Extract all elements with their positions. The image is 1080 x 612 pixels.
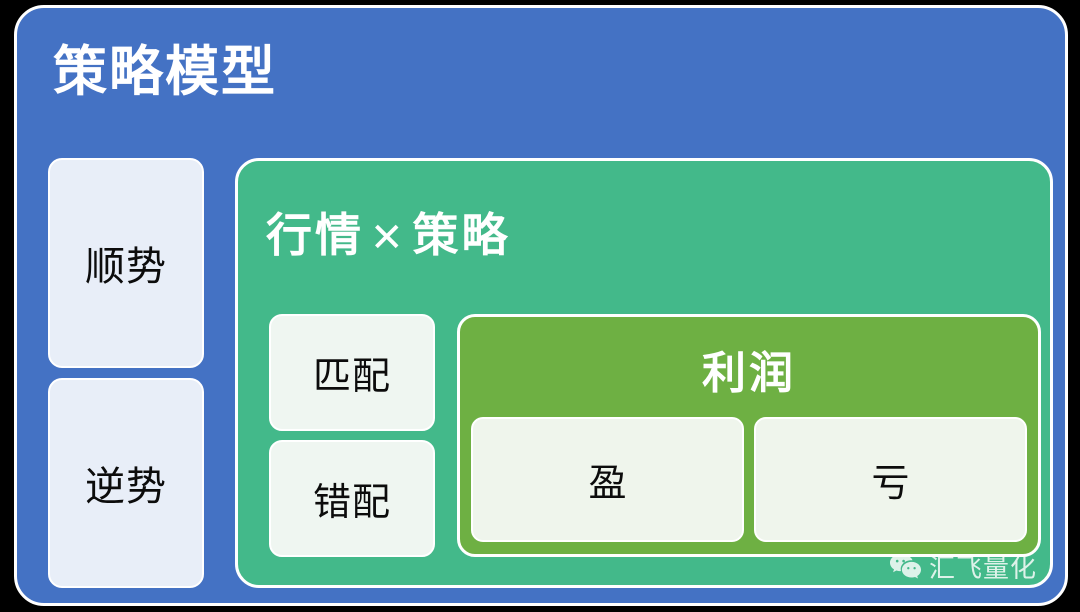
profit-title: 利润 xyxy=(460,337,1038,401)
profit-outcome-row: 盈 亏 xyxy=(471,417,1027,542)
strategy-label: 策略 xyxy=(413,209,511,261)
profit-card-loss[interactable]: 亏 xyxy=(754,417,1027,542)
multiply-icon: ✕ xyxy=(364,216,413,260)
match-column: 匹配 错配 xyxy=(269,314,435,557)
profit-panel: 利润 盈 亏 xyxy=(457,314,1041,557)
market-label: 行情 xyxy=(266,209,364,261)
match-card-mismatched[interactable]: 错配 xyxy=(269,440,435,557)
trend-card-counter[interactable]: 逆势 xyxy=(48,378,204,588)
profit-card-gain[interactable]: 盈 xyxy=(471,417,744,542)
trend-column: 顺势 逆势 xyxy=(48,158,204,588)
trend-card-follow[interactable]: 顺势 xyxy=(48,158,204,368)
diagram-canvas: 策略模型 顺势 逆势 行情✕策略 匹配 错配 利润 盈 亏 xyxy=(0,0,1080,612)
market-strategy-panel: 行情✕策略 匹配 错配 利润 盈 亏 xyxy=(235,158,1053,588)
match-card-matched[interactable]: 匹配 xyxy=(269,314,435,431)
strategy-model-panel: 策略模型 顺势 逆势 行情✕策略 匹配 错配 利润 盈 亏 xyxy=(14,5,1068,606)
market-strategy-title: 行情✕策略 xyxy=(266,199,511,265)
page-title: 策略模型 xyxy=(53,41,277,103)
